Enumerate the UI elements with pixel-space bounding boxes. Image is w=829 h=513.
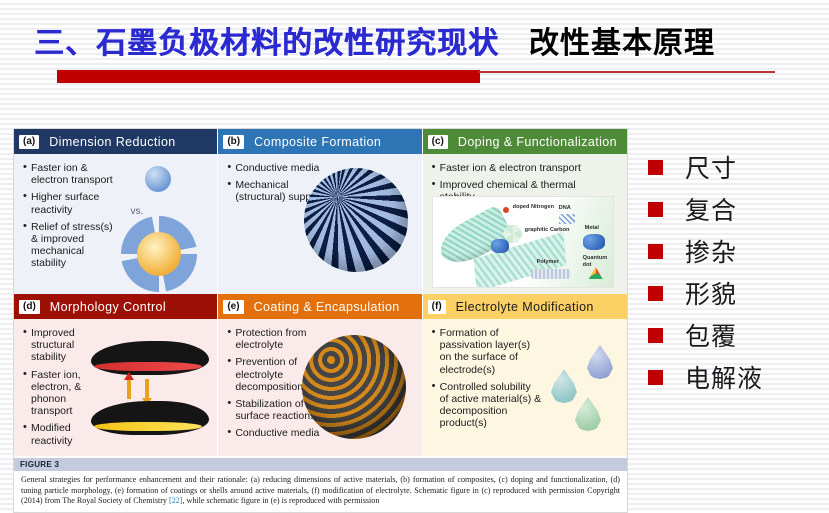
coated-sphere-icon	[302, 335, 406, 439]
panel-header-d: (d) Morphology Control	[14, 294, 217, 319]
panel-doping-functionalization: (c) Doping & Functionalization Faster io…	[423, 129, 627, 294]
list-item: Faster ion & electron transport	[432, 162, 614, 174]
list-item-label: 电解液	[685, 359, 763, 395]
panel-title-b: Composite Formation	[254, 135, 381, 149]
layered-sheets-icon	[91, 341, 211, 439]
list-item-label: 掺杂	[685, 233, 737, 269]
panel-tag-b: (b)	[223, 135, 244, 149]
droplet-teal-icon	[551, 369, 577, 403]
dna-helix-icon	[559, 214, 575, 224]
figure-caption-label-band: FIGURE 3	[14, 458, 627, 471]
list-item-label: 形貌	[685, 275, 737, 311]
list-item: Conductive media	[227, 427, 336, 439]
label-polymer: Polymer	[537, 259, 559, 266]
panel-header-e: (e) Coating & Encapsulation	[218, 294, 421, 319]
panel-dimension-reduction: (a) Dimension Reduction Faster ion & ele…	[14, 129, 218, 294]
square-bullet-icon	[648, 286, 663, 301]
list-item: Formation of passivation layer(s) on the…	[432, 327, 542, 376]
label-dna: DNA	[559, 205, 571, 212]
quantum-dot-icon	[589, 267, 603, 279]
list-item: Relief of stress(s) & improved mechanica…	[23, 221, 121, 270]
panel-title-e: Coating & Encapsulation	[254, 300, 400, 314]
list-item: 尺寸	[648, 146, 828, 188]
list-item: 掺杂	[648, 230, 828, 272]
metal-cluster-icon	[583, 234, 605, 250]
chinese-bullet-list: 尺寸 复合 掺杂 形貌 包覆 电解液	[648, 146, 828, 398]
panel-header-a: (a) Dimension Reduction	[14, 129, 217, 154]
caption-reference: [22]	[169, 496, 182, 505]
panel-coating-encapsulation: (e) Coating & Encapsulation Protection f…	[218, 294, 422, 456]
metal-cluster-icon	[491, 239, 509, 253]
panel-tag-c: (c)	[428, 135, 448, 149]
list-item-label: 尺寸	[685, 149, 737, 185]
list-item: Higher surface reactivity	[23, 191, 121, 215]
figure-caption-label: FIGURE 3	[20, 460, 59, 469]
list-item: 复合	[648, 188, 828, 230]
square-bullet-icon	[648, 244, 663, 259]
dopant-dot-icon	[503, 207, 509, 213]
panel-composite-formation: (b) Composite Formation Conductive media…	[218, 129, 422, 294]
panel-header-f: (f) Electrolyte Modification	[423, 294, 627, 319]
arrow-up-icon	[127, 379, 131, 399]
page-title-secondary: 改性基本原理	[529, 18, 715, 62]
panel-body-d: Improved structural stability Faster ion…	[14, 319, 217, 456]
bottom-sheet-icon	[91, 401, 209, 435]
list-item-label: 复合	[685, 191, 737, 227]
panel-electrolyte-modification: (f) Electrolyte Modification Formation o…	[423, 294, 627, 456]
list-item: 包覆	[648, 314, 828, 356]
panel-body-a: Faster ion & electron transport Higher s…	[14, 154, 217, 294]
polymer-chain-icon	[531, 269, 571, 279]
panel-bullets-f: Formation of passivation layer(s) on the…	[432, 327, 542, 430]
panel-title-a: Dimension Reduction	[49, 135, 175, 149]
label-graphitic-carbon: graphitic Carbon	[525, 227, 570, 234]
figure-caption-text: General strategies for performance enhan…	[14, 471, 627, 507]
panel-tag-a: (a)	[19, 135, 39, 149]
list-item: Controlled solubility of active material…	[432, 381, 542, 430]
panel-title-f: Electrolyte Modification	[456, 300, 594, 314]
list-item: 形貌	[648, 272, 828, 314]
panel-title-d: Morphology Control	[50, 300, 166, 314]
list-item-label: 包覆	[685, 317, 737, 353]
label-doped-nitrogen: doped Nitrogen	[513, 204, 554, 211]
droplet-blue-icon	[587, 345, 613, 379]
large-particle-core-icon	[137, 232, 181, 276]
panel-header-b: (b) Composite Formation	[218, 129, 421, 154]
small-particle-icon	[145, 166, 171, 192]
panel-body-c: Faster ion & electron transport Improved…	[423, 154, 627, 294]
doping-schematic: doped Nitrogen graphitic Carbon DNA Meta…	[432, 196, 614, 288]
list-item: Conductive media	[227, 162, 325, 174]
panel-morphology-control: (d) Morphology Control Improved structur…	[14, 294, 218, 456]
panel-tag-f: (f)	[428, 300, 446, 314]
square-bullet-icon	[648, 370, 663, 385]
square-bullet-icon	[648, 202, 663, 217]
panel-title-c: Doping & Functionalization	[458, 135, 617, 149]
title-underline-bar	[57, 70, 480, 83]
square-bullet-icon	[648, 160, 663, 175]
list-item: Faster ion & electron transport	[23, 162, 121, 186]
title-underline-rule	[478, 71, 775, 73]
panel-tag-d: (d)	[19, 300, 40, 314]
composite-sphere-icon	[304, 168, 408, 272]
page-title-primary: 三、石墨负极材料的改性研究现状	[34, 18, 499, 62]
square-bullet-icon	[648, 328, 663, 343]
slide-title-row: 三、石墨负极材料的改性研究现状 改性基本原理	[0, 18, 829, 62]
panel-header-c: (c) Doping & Functionalization	[423, 129, 627, 154]
top-sheet-icon	[91, 341, 209, 375]
label-quantum-dot: Quantum dot	[583, 255, 613, 268]
figure-image: (a) Dimension Reduction Faster ion & ele…	[13, 128, 628, 513]
panel-grid: (a) Dimension Reduction Faster ion & ele…	[14, 129, 627, 456]
panel-body-b: Conductive media Mechanical (structural)…	[218, 154, 421, 294]
panel-bullets-a: Faster ion & electron transport Higher s…	[23, 162, 121, 270]
vs-label: vs.	[131, 206, 144, 217]
droplet-green-icon	[575, 397, 601, 431]
label-metal: Metal	[585, 225, 599, 232]
panel-tag-e: (e)	[223, 300, 243, 314]
list-item: 电解液	[648, 356, 828, 398]
caption-part-2: , while schematic figure in (e) is repro…	[182, 496, 379, 505]
panel-body-f: Formation of passivation layer(s) on the…	[423, 319, 627, 456]
panel-body-e: Protection from electrolyte Prevention o…	[218, 319, 421, 456]
arrow-down-icon	[145, 379, 149, 399]
